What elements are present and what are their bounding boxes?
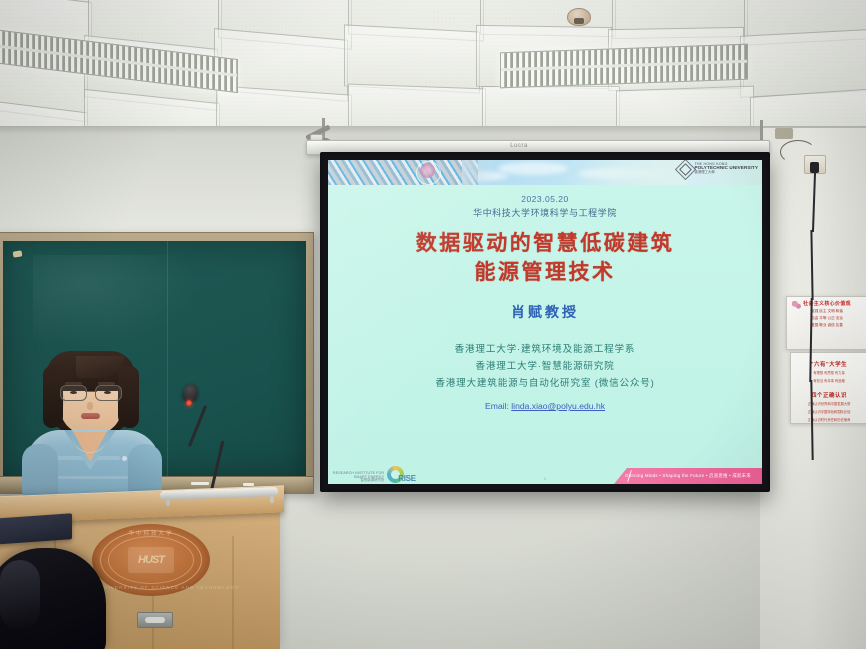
rise-line-3: 智慧能源研究院 bbox=[333, 479, 384, 483]
smoke-detector-icon bbox=[567, 8, 591, 26]
poster-heading: "六有"大学生 bbox=[791, 360, 866, 368]
lectern-door-handle[interactable] bbox=[137, 612, 173, 628]
housing-brand-label: Lucra bbox=[510, 143, 528, 149]
slide-page-number: 1 bbox=[544, 476, 546, 481]
slide-header-banner: THE HONG KONG POLYTECHNIC UNIVERSITY 香港理… bbox=[328, 160, 762, 185]
poster-values-row-3: 爱国 敬业 诚信 友善 bbox=[787, 323, 866, 328]
slide-title-line-2: 能源管理技术 bbox=[328, 259, 762, 288]
slide-email: Email: linda.xiao@polyu.edu.hk bbox=[328, 401, 762, 411]
ceiling-tile bbox=[348, 84, 486, 132]
poster-line-2: 有担当 有本事 有品格 bbox=[791, 379, 866, 384]
presenter-nose bbox=[87, 402, 93, 410]
suspended-ceiling bbox=[0, 0, 866, 132]
presenter-laptop[interactable] bbox=[0, 513, 72, 544]
chalkboard-chip bbox=[13, 250, 23, 257]
slide-date: 2023.05.20 bbox=[328, 194, 762, 204]
slide-title-line-1: 数据驱动的智慧低碳建筑 bbox=[328, 230, 762, 259]
hust-emblem: 华中科技大学 HUST HUAZHONG UNIVERSITY OF SCIEN… bbox=[92, 524, 210, 596]
presenter-mouth bbox=[81, 413, 100, 419]
poster-subheading: 四个正确认识 bbox=[791, 391, 866, 399]
eyeglass-lens-right bbox=[95, 385, 122, 401]
eyeglass-bridge bbox=[85, 391, 97, 392]
lectern-panel-seam bbox=[232, 536, 234, 649]
poster-body-1: 正确认识世界和中国发展大势 bbox=[791, 402, 866, 407]
ribbon-motto-text: Opening Minds • Shaping the Future • 启迪思… bbox=[625, 473, 751, 479]
presenter-eyeglasses bbox=[60, 385, 122, 400]
slide-host-organization: 华中科技大学环境科学与工程学院 bbox=[328, 206, 762, 219]
banner-emblem-icon bbox=[420, 163, 435, 178]
emblem-initials: HUST bbox=[138, 554, 164, 566]
polyu-logo: THE HONG KONG POLYTECHNIC UNIVERSITY 香港理… bbox=[678, 162, 758, 175]
email-link[interactable]: linda.xiao@polyu.edu.hk bbox=[511, 401, 605, 411]
emblem-top-text: 华中科技大学 bbox=[128, 529, 173, 537]
eyeglass-lens-left bbox=[60, 385, 87, 401]
poster-core-values: 社会主义核心价值观 富强 民主 文明 和谐 自由 平等 公正 法治 爱国 敬业 … bbox=[786, 296, 866, 350]
affiliation-line-1: 香港理工大学·建筑环境及能源工程学系 bbox=[328, 341, 762, 358]
email-label: Email: bbox=[485, 401, 509, 411]
sky-cloud bbox=[498, 162, 568, 175]
polyu-motto-ribbon: Opening Minds • Shaping the Future • 启迪思… bbox=[614, 468, 762, 484]
chalk-piece bbox=[191, 482, 209, 485]
lecture-hall-photo: Lucra THE HONG KONG POLYTECHNIC UNIVERSI… bbox=[0, 0, 866, 649]
slide-content: 2023.05.20 华中科技大学环境科学与工程学院 数据驱动的智慧低碳建筑 能… bbox=[328, 185, 762, 466]
presentation-slide: THE HONG KONG POLYTECHNIC UNIVERSITY 香港理… bbox=[328, 160, 762, 484]
poster-body-3: 正确认识时代责任和历史使命 bbox=[791, 418, 866, 423]
polyu-diamond-icon bbox=[678, 162, 691, 175]
wall-ceiling-beam bbox=[0, 126, 866, 135]
projection-screen[interactable]: THE HONG KONG POLYTECHNIC UNIVERSITY 香港理… bbox=[320, 152, 770, 492]
microphone-led-indicator bbox=[186, 400, 192, 406]
affiliation-line-3: 香港理大建筑能源与自动化研究室 (微信公众号) bbox=[328, 375, 762, 392]
chalk-piece bbox=[243, 483, 254, 486]
polyu-wordmark: THE HONG KONG POLYTECHNIC UNIVERSITY 香港理… bbox=[694, 163, 758, 175]
affiliation-line-2: 香港理工大学·智慧能源研究院 bbox=[328, 358, 762, 375]
poster-values-row-2: 自由 平等 公正 法治 bbox=[787, 316, 866, 321]
polyu-line-3: 香港理工大學 bbox=[694, 171, 758, 174]
banner-fade bbox=[568, 160, 688, 185]
slide-title: 数据驱动的智慧低碳建筑 能源管理技术 bbox=[328, 230, 762, 288]
slide-footer: RESEARCH INSTITUTE FOR SMART ENERGY 智慧能源… bbox=[328, 466, 762, 484]
ceiling-tile bbox=[740, 28, 866, 98]
ceiling-conduit-box bbox=[775, 128, 793, 139]
flower-decoration-icon bbox=[790, 299, 802, 311]
poster-line-1: 有理想 有思想 有力量 bbox=[791, 371, 866, 376]
presenter-lapel-pin bbox=[122, 456, 127, 461]
emblem-center: HUST bbox=[128, 547, 174, 573]
rise-acronym: RISE bbox=[398, 474, 415, 483]
slide-affiliations: 香港理工大学·建筑环境及能源工程学系 香港理工大学·智慧能源研究院 香港理大建筑… bbox=[328, 341, 762, 392]
hair-highlight bbox=[0, 560, 40, 630]
banner-stripe-graphic bbox=[328, 160, 478, 185]
chalkboard-glare bbox=[33, 255, 200, 349]
rise-logo: RESEARCH INSTITUTE FOR SMART ENERGY 智慧能源… bbox=[333, 466, 416, 483]
poster-body-2: 正确认识中国特色和国际比较 bbox=[791, 410, 866, 415]
slide-speaker-name: 肖赋教授 bbox=[328, 302, 762, 322]
rise-wordmark: RESEARCH INSTITUTE FOR SMART ENERGY 智慧能源… bbox=[333, 472, 384, 483]
poster-six-haves: "六有"大学生 有理想 有思想 有力量 有担当 有本事 有品格 四个正确认识 正… bbox=[790, 352, 866, 424]
